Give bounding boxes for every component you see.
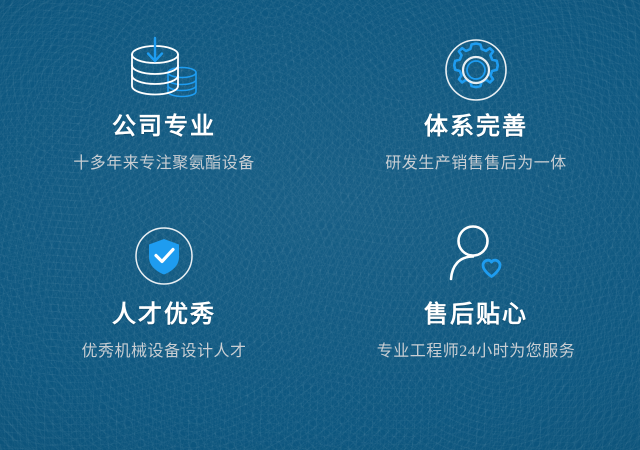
feature-title: 公司专业 xyxy=(112,114,216,140)
feature-title: 售后贴心 xyxy=(424,302,528,328)
feature-title: 人才优秀 xyxy=(112,302,216,328)
feature-card-company-professional: 公司专业 十多年来专注聚氨酯设备 xyxy=(8,34,320,220)
shield-check-icon xyxy=(131,223,197,289)
feature-card-system-complete: 体系完善 研发生产销售售后为一体 xyxy=(320,34,632,220)
database-stack-icon xyxy=(123,36,205,104)
person-heart-icon xyxy=(440,223,512,289)
feature-description: 专业工程师24小时为您服务 xyxy=(377,342,576,361)
feature-card-after-sales-care: 售后贴心 专业工程师24小时为您服务 xyxy=(320,220,632,406)
feature-description: 研发生产销售售后为一体 xyxy=(385,154,567,173)
feature-banner: 公司专业 十多年来专注聚氨酯设备 体系完善 研发生产销售售后为一体 xyxy=(0,0,640,450)
feature-card-talent-excellent: 人才优秀 优秀机械设备设计人才 xyxy=(8,220,320,406)
icon-wrap xyxy=(440,34,512,106)
feature-title: 体系完善 xyxy=(424,114,528,140)
icon-wrap xyxy=(131,220,197,292)
feature-grid: 公司专业 十多年来专注聚氨酯设备 体系完善 研发生产销售售后为一体 xyxy=(0,0,640,450)
feature-description: 十多年来专注聚氨酯设备 xyxy=(73,154,255,173)
feature-description: 优秀机械设备设计人才 xyxy=(81,342,246,361)
icon-wrap xyxy=(440,220,512,292)
gear-icon xyxy=(440,34,512,106)
icon-wrap xyxy=(123,34,205,106)
